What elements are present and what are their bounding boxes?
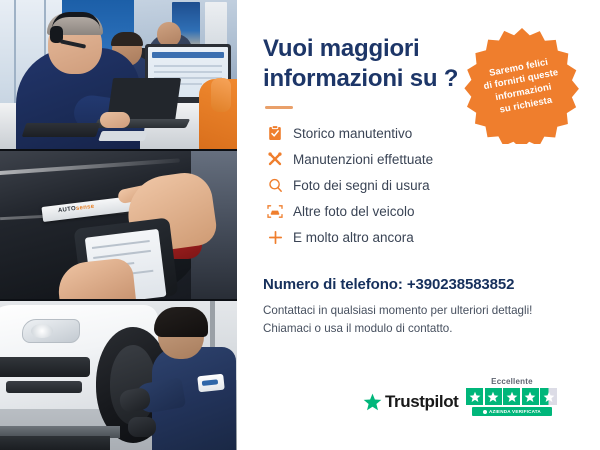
callout-badge-content: Saremo felici di fornirti queste informa… bbox=[453, 16, 591, 154]
page-title: Vuoi maggiori informazioni su ? bbox=[263, 34, 478, 94]
headline-line-2: informazioni su ? bbox=[263, 65, 458, 92]
crossed-tools-icon bbox=[263, 149, 287, 169]
star-filled bbox=[503, 388, 520, 405]
trustpilot-widget[interactable]: Trustpilot Eccellente AZIENDA VERIFICATA bbox=[363, 377, 557, 416]
feature-label: Foto dei segni di usura bbox=[293, 178, 430, 193]
photo-decor bbox=[0, 357, 90, 377]
callout-badge: Saremo felici di fornirti queste informa… bbox=[463, 26, 581, 144]
photo-decor bbox=[152, 52, 224, 58]
feature-label: Storico manutentivo bbox=[293, 126, 412, 141]
photo-decor bbox=[100, 112, 130, 128]
photo-decor bbox=[154, 71, 222, 73]
contact-subtext: Contattaci in qualsiasi momento per ulte… bbox=[263, 302, 600, 338]
photo-call-center bbox=[0, 0, 237, 149]
feature-item-altre-foto-veicolo: Altre foto del veicolo bbox=[263, 198, 600, 224]
feature-label: Manutenzioni effettuate bbox=[293, 152, 433, 167]
photo-decor bbox=[0, 436, 110, 450]
trustpilot-name: Trustpilot bbox=[385, 392, 458, 412]
photo-decor bbox=[128, 417, 156, 437]
headline-line-1: Vuoi maggiori bbox=[263, 35, 420, 62]
star-filled bbox=[522, 388, 539, 405]
photo-decor bbox=[111, 32, 143, 46]
photo-decor bbox=[211, 78, 231, 112]
magnifier-icon bbox=[263, 175, 287, 195]
content-panel: Vuoi maggiori informazioni su ? Storico … bbox=[237, 0, 600, 450]
phone-number-label: Numero di telefono: +390238583852 bbox=[263, 276, 600, 293]
photo-decor bbox=[6, 381, 82, 393]
photo-decor bbox=[154, 65, 222, 67]
photo-decor bbox=[31, 324, 53, 338]
clipboard-check-icon bbox=[263, 123, 287, 143]
photo-decor bbox=[98, 131, 148, 141]
photo-decor bbox=[92, 240, 150, 249]
star-filled bbox=[466, 388, 483, 405]
feature-item-manutenzioni-effettuate: Manutenzioni effettuate bbox=[263, 146, 600, 172]
promo-banner: AUTOsense bbox=[0, 0, 600, 450]
feature-item-molto-altro: E molto altro ancora bbox=[263, 224, 600, 250]
check-icon bbox=[483, 410, 487, 414]
photo-decor bbox=[154, 307, 208, 337]
verified-badge-label: AZIENDA VERIFICATA bbox=[489, 409, 541, 414]
trustpilot-star-icon bbox=[363, 393, 382, 411]
photo-decor bbox=[22, 123, 101, 137]
feature-label: E molto altro ancora bbox=[293, 230, 414, 245]
contact-subtext-line-1: Contattaci in qualsiasi momento per ulte… bbox=[263, 304, 532, 317]
star-filled bbox=[485, 388, 502, 405]
photo-decor bbox=[205, 2, 227, 46]
trustpilot-rating: Eccellente AZIENDA VERIFICATA bbox=[466, 377, 557, 416]
photo-column: AUTOsense bbox=[0, 0, 237, 450]
contact-subtext-line-2: Chiamaci o usa il modulo di contatto. bbox=[263, 322, 452, 335]
trustpilot-logo: Trustpilot bbox=[363, 392, 458, 416]
verified-badge: AZIENDA VERIFICATA bbox=[472, 407, 552, 416]
plus-icon bbox=[263, 227, 287, 247]
car-scan-icon bbox=[263, 201, 287, 221]
photo-decor bbox=[93, 250, 151, 259]
feature-label: Altre foto del veicolo bbox=[293, 204, 415, 219]
photo-decor bbox=[14, 0, 16, 104]
title-underline-rule bbox=[265, 106, 293, 109]
star-half bbox=[540, 388, 557, 405]
feature-item-foto-segni-usura: Foto dei segni di usura bbox=[263, 172, 600, 198]
trustpilot-rating-label: Eccellente bbox=[491, 377, 533, 386]
photo-decor bbox=[197, 374, 225, 393]
photo-decor: AUTOsense bbox=[58, 203, 95, 213]
photo-panel-inspection: AUTOsense bbox=[0, 151, 237, 300]
photo-decor bbox=[22, 319, 80, 343]
trustpilot-stars bbox=[466, 388, 557, 405]
photo-wheel-service bbox=[0, 301, 237, 450]
callout-badge-text: Saremo felici di fornirti queste informa… bbox=[470, 52, 574, 120]
